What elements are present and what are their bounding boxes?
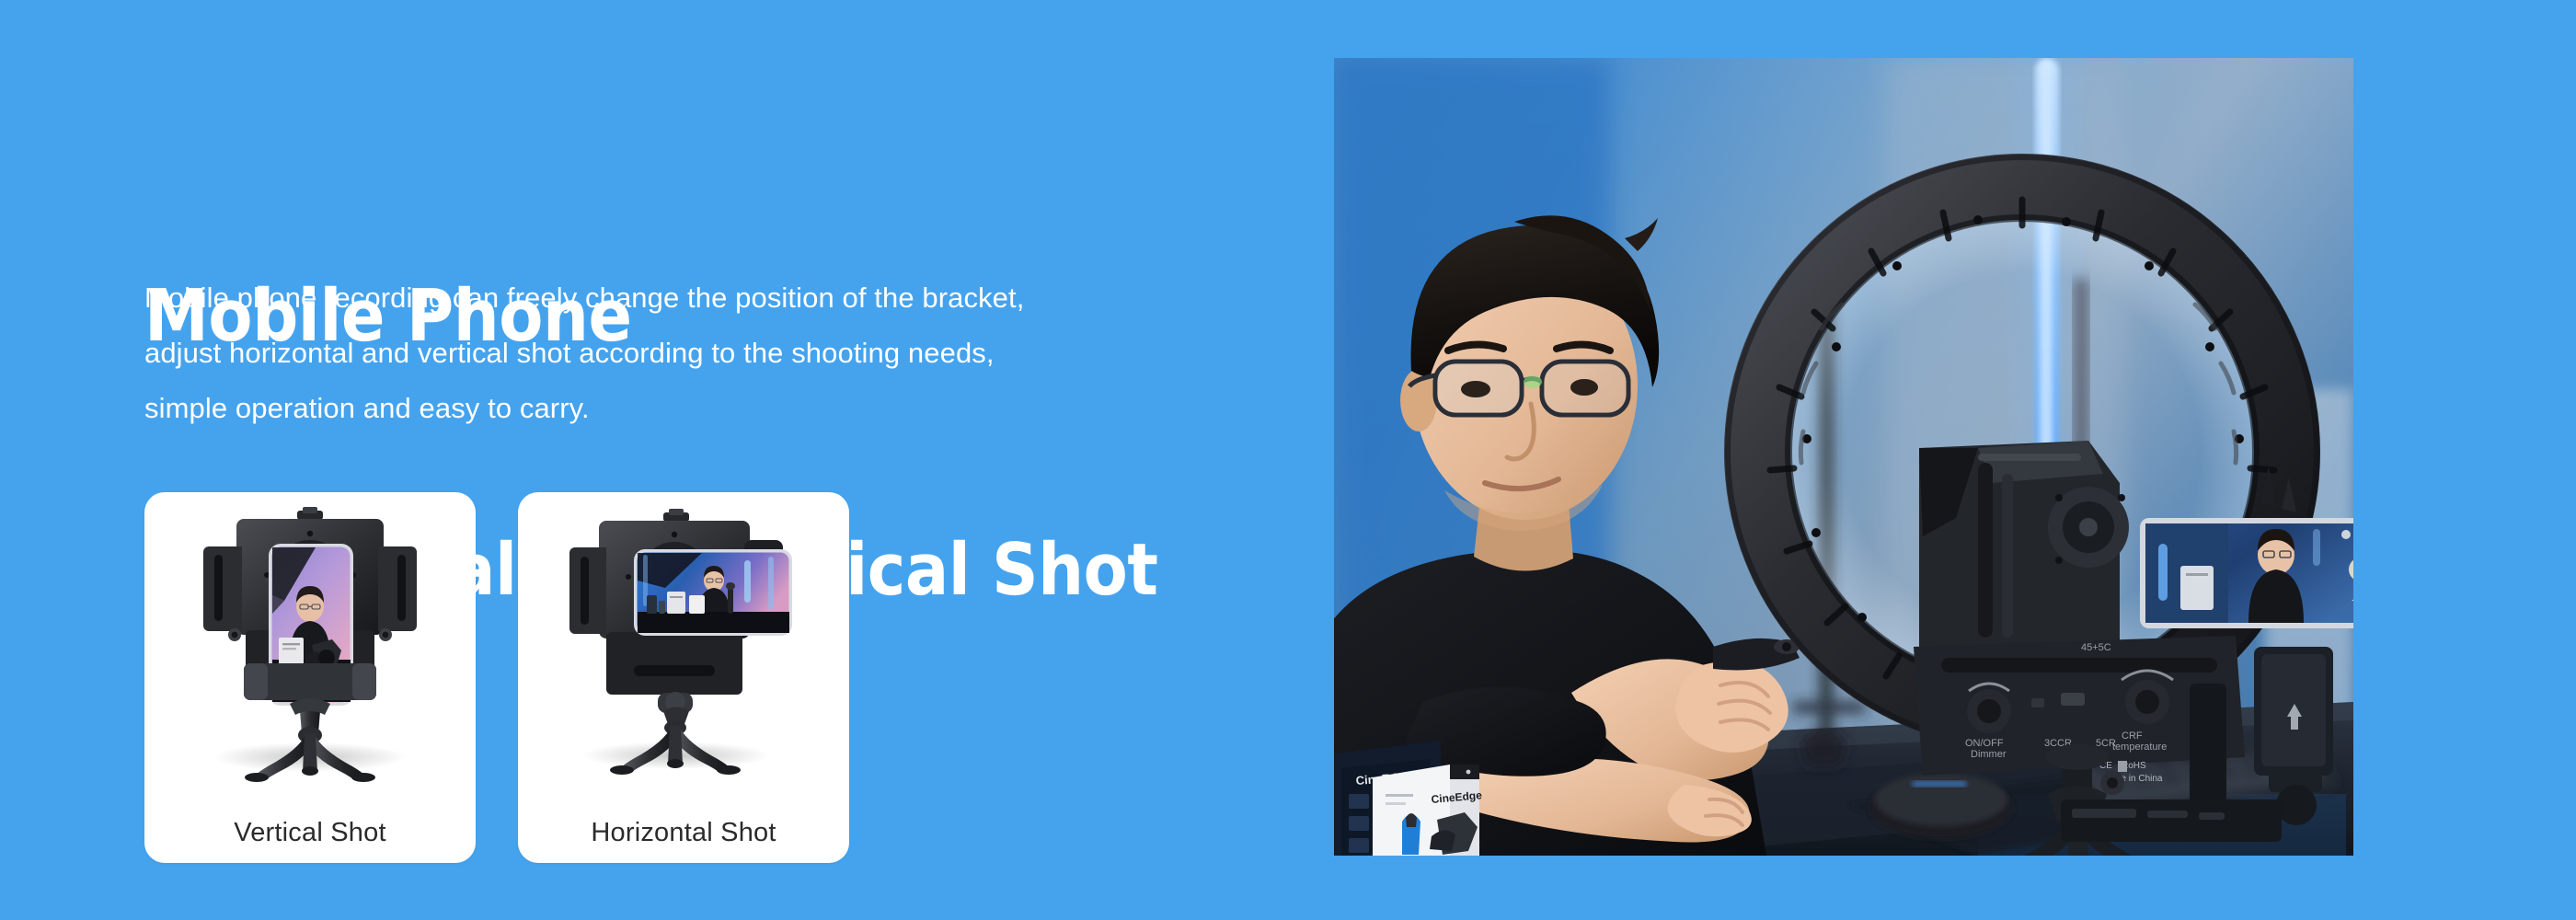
photo-scene-svg: CineEdge Air CineEdge (1334, 58, 2353, 856)
card-label-vertical: Vertical Shot (144, 818, 476, 848)
description-line-2: adjust horizontal and vertical shot acco… (144, 326, 1175, 381)
product-lifestyle-photo: CineEdge Air CineEdge (1334, 58, 2353, 856)
vertical-shot-illustration (144, 492, 476, 796)
page-root: Mobile Phone Horizontal and Vertical Sho… (0, 0, 2576, 920)
description-line-3: simple operation and easy to carry. (144, 381, 1175, 436)
description-line-1: Mobile phone recording can freely change… (144, 270, 1175, 326)
vertical-rig-svg (144, 492, 476, 796)
svg-text:temperature: temperature (2112, 742, 2167, 753)
svg-text:CRF: CRF (2122, 730, 2143, 742)
card-vertical-shot[interactable]: Vertical Shot (144, 492, 476, 863)
shot-mode-cards: Vertical Shot (144, 492, 849, 863)
left-content-column: Mobile Phone Horizontal and Vertical Sho… (144, 0, 1248, 920)
svg-text:ON/OFF: ON/OFF (1965, 738, 2004, 749)
card-label-horizontal: Horizontal Shot (518, 818, 849, 848)
horizontal-rig-svg (518, 492, 849, 796)
description-paragraph: Mobile phone recording can freely change… (144, 270, 1175, 436)
horizontal-shot-illustration (518, 492, 849, 796)
svg-text:45+5C: 45+5C (2081, 642, 2111, 653)
svg-text:Dimmer: Dimmer (1971, 749, 2007, 760)
card-horizontal-shot[interactable]: Horizontal Shot (518, 492, 849, 863)
